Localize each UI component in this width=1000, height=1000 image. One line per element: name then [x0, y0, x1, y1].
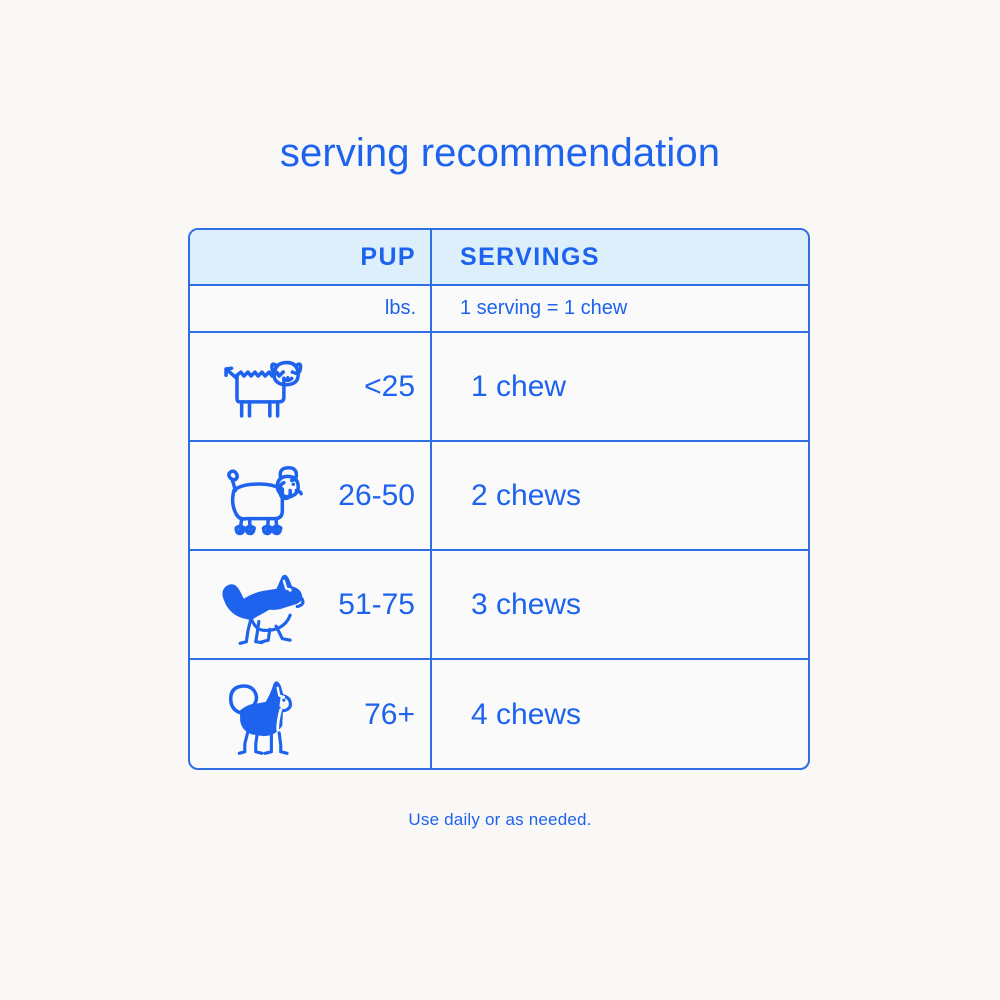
- table-row: 26-50 2 chews: [190, 442, 808, 551]
- units-label-lbs: lbs.: [385, 297, 416, 320]
- row-weight: 51-75: [338, 588, 415, 622]
- row-cell-pup: 26-50: [190, 442, 432, 549]
- page-title: serving recommendation: [0, 128, 1000, 178]
- row-cell-pup: 76+: [190, 660, 432, 770]
- row-servings: 1 chew: [471, 370, 566, 404]
- serving-definition-label: 1 serving = 1 chew: [460, 297, 627, 320]
- row-servings: 4 chews: [471, 698, 581, 732]
- row-weight: 76+: [364, 698, 415, 732]
- row-cell-pup: 51-75: [190, 551, 432, 658]
- serving-recommendation-card: serving recommendation PUP SERVINGS lbs.…: [0, 0, 1000, 1000]
- table-row: 76+ 4 chews: [190, 660, 808, 770]
- units-cell-pup: lbs.: [190, 286, 432, 331]
- header-cell-pup: PUP: [190, 230, 432, 284]
- header-label-pup: PUP: [360, 243, 416, 272]
- shepherd-dog-icon: [214, 562, 310, 648]
- row-cell-pup: <25: [190, 333, 432, 440]
- footer-note: Use daily or as needed.: [0, 810, 1000, 830]
- table-row: 51-75 3 chews: [190, 551, 808, 660]
- husky-dog-icon: [214, 672, 310, 758]
- row-servings: 2 chews: [471, 479, 581, 513]
- row-cell-servings: 1 chew: [432, 333, 808, 440]
- row-weight: 26-50: [338, 479, 415, 513]
- row-cell-servings: 2 chews: [432, 442, 808, 549]
- row-servings: 3 chews: [471, 588, 581, 622]
- row-cell-servings: 4 chews: [432, 660, 808, 770]
- row-weight: <25: [364, 370, 415, 404]
- header-label-servings: SERVINGS: [460, 243, 600, 272]
- poodle-dog-icon: [214, 453, 310, 539]
- small-dog-icon: [214, 344, 310, 430]
- table-row: <25 1 chew: [190, 333, 808, 442]
- table-units-row: lbs. 1 serving = 1 chew: [190, 286, 808, 333]
- table-header-row: PUP SERVINGS: [190, 230, 808, 286]
- units-cell-servings: 1 serving = 1 chew: [432, 286, 808, 331]
- header-cell-servings: SERVINGS: [432, 230, 808, 284]
- serving-table: PUP SERVINGS lbs. 1 serving = 1 chew: [188, 228, 810, 770]
- row-cell-servings: 3 chews: [432, 551, 808, 658]
